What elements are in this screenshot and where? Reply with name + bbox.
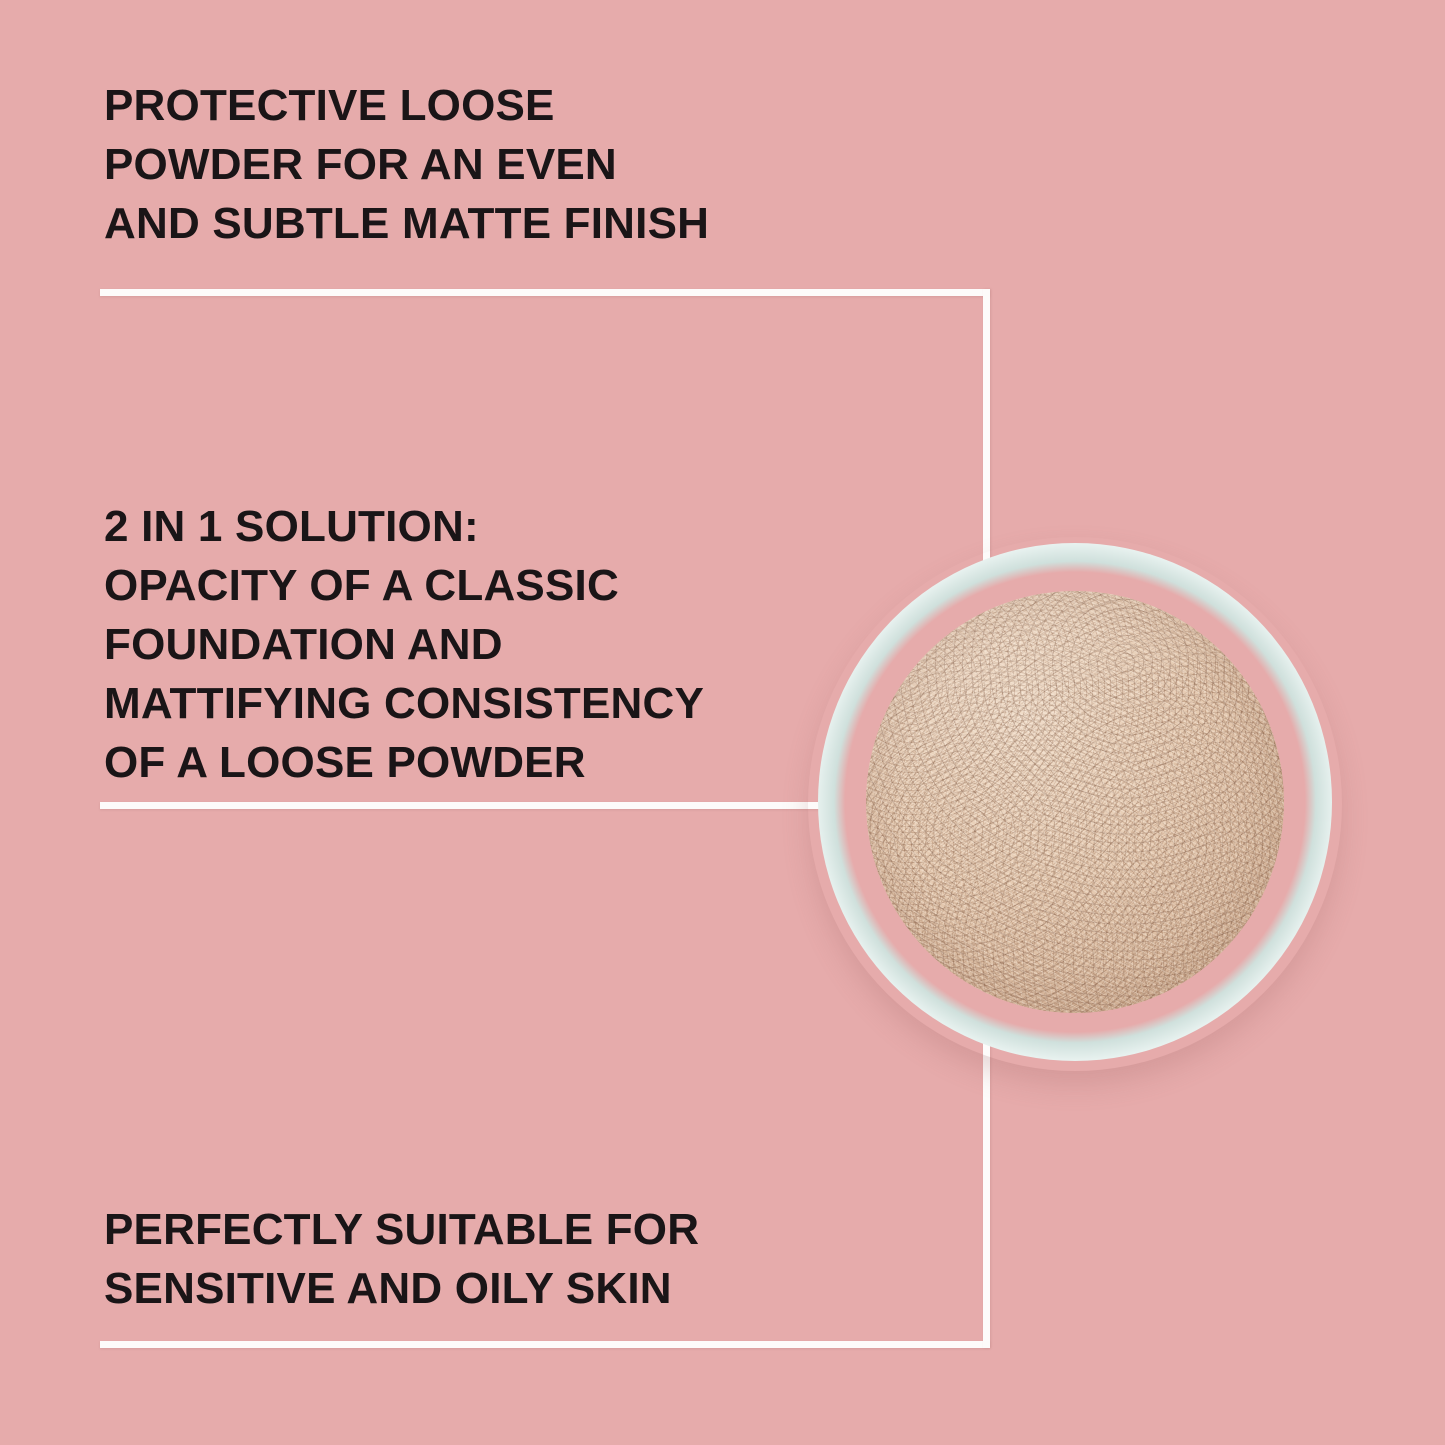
divider-line-bottom	[100, 1341, 990, 1348]
claim-text-protective-loose-powder: PROTECTIVE LOOSE POWDER FOR AN EVEN AND …	[104, 76, 709, 253]
powder-surface	[866, 591, 1284, 1013]
divider-line-vertical-upper	[983, 289, 990, 567]
divider-line-vertical-lower	[983, 1032, 990, 1348]
claim-text-2-in-1-solution: 2 IN 1 SOLUTION: OPACITY OF A CLASSIC FO…	[104, 497, 704, 792]
divider-line-top	[100, 289, 990, 296]
loose-powder-jar-image	[818, 543, 1332, 1061]
claim-text-suitable-sensitive-oily-skin: PERFECTLY SUITABLE FOR SENSITIVE AND OIL…	[104, 1200, 699, 1318]
powder-inner-shadow	[866, 591, 1284, 1013]
product-feature-graphic: PROTECTIVE LOOSE POWDER FOR AN EVEN AND …	[0, 0, 1445, 1445]
divider-line-middle	[100, 802, 822, 809]
